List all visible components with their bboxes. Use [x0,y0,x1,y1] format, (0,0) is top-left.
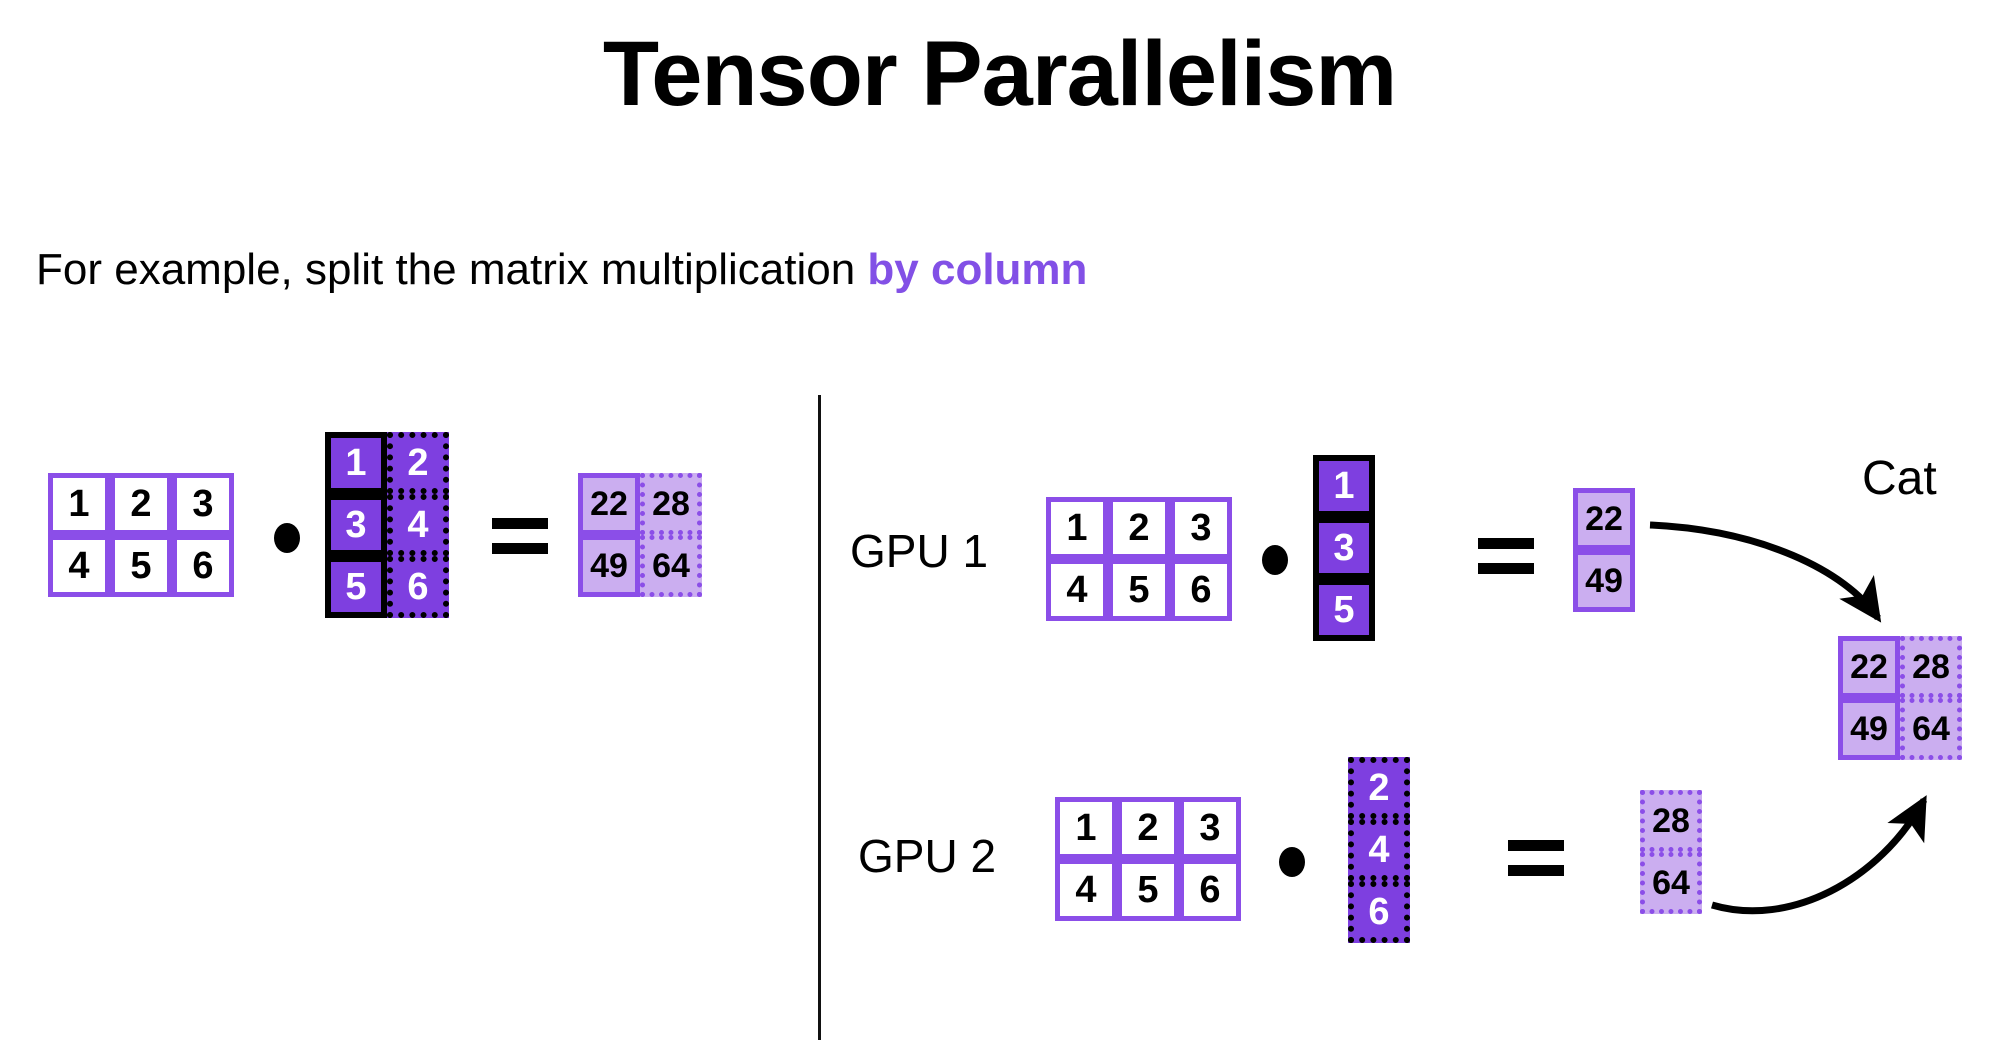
gpu2-matrix-b: 2 4 6 [1348,757,1410,943]
matrix-cell: 3 [1170,497,1232,559]
equals-operator-icon [1478,538,1534,574]
matrix-cell: 4 [1055,859,1117,921]
concat-label: Cat [1862,455,1937,503]
matrix-cell: 64 [1900,698,1962,760]
matrix-cell: 1 [325,432,387,494]
section-divider [818,395,821,1040]
matrix-cell: 49 [578,535,640,597]
matrix-cell: 28 [1640,790,1702,852]
matrix-cell: 64 [1640,852,1702,914]
subtitle-accent: by column [867,245,1087,294]
matrix-cell: 6 [387,556,449,618]
matrix-cell: 3 [325,494,387,556]
gpu1-matrix-b: 1 3 5 [1313,455,1375,641]
table-row: 1 2 3 [48,473,234,535]
matrix-cell: 3 [1313,517,1375,579]
matrix-cell: 1 [1313,455,1375,517]
dot-product-operator-icon [274,523,300,553]
matrix-cell: 6 [1170,559,1232,621]
matrix-cell: 64 [640,535,702,597]
matrix-cell: 3 [172,473,234,535]
subtitle-prefix: For example, split the matrix multiplica… [36,245,867,294]
concat-result-matrix: 22 49 28 64 [1838,636,1962,760]
matrix-cell: 2 [1108,497,1170,559]
gpu1-to-concat-arrow [1650,525,1878,618]
matrix-cell: 2 [1117,797,1179,859]
dot-product-operator-icon [1262,545,1288,575]
gpu2-to-concat-arrow [1712,800,1924,911]
result-column-solid: 22 49 [1838,636,1900,760]
matrix-cell: 22 [578,473,640,535]
matrix-column-solid: 1 3 5 [325,432,387,618]
matrix-cell: 49 [1573,550,1635,612]
left-matrix-b: 1 3 5 2 4 6 [325,432,449,618]
gpu1-result-matrix: 22 49 [1573,488,1635,612]
table-row: 1 2 3 [1055,797,1241,859]
result-column-dotted: 28 64 [1900,636,1962,760]
matrix-cell: 5 [1117,859,1179,921]
matrix-cell: 6 [1348,881,1410,943]
table-row: 1 2 3 [1046,497,1232,559]
dot-product-operator-icon [1279,847,1305,877]
table-row: 4 5 6 [1055,859,1241,921]
equals-operator-icon [1508,840,1564,876]
table-row: 4 5 6 [48,535,234,597]
matrix-cell: 2 [387,432,449,494]
matrix-cell: 5 [1108,559,1170,621]
matrix-cell: 1 [1055,797,1117,859]
matrix-cell: 2 [1348,757,1410,819]
matrix-column-dotted: 2 4 6 [387,432,449,618]
matrix-cell: 28 [1900,636,1962,698]
left-result-matrix: 22 49 28 64 [578,473,702,597]
matrix-cell: 22 [1838,636,1900,698]
result-column-solid: 22 49 [578,473,640,597]
page-title: Tensor Parallelism [0,28,1999,120]
gpu2-result-matrix: 28 64 [1640,790,1702,914]
matrix-cell: 4 [387,494,449,556]
matrix-cell: 2 [110,473,172,535]
matrix-cell: 5 [110,535,172,597]
matrix-cell: 6 [172,535,234,597]
matrix-cell: 49 [1838,698,1900,760]
matrix-cell: 22 [1573,488,1635,550]
gpu2-label: GPU 2 [858,833,996,879]
matrix-cell: 6 [1179,859,1241,921]
gpu1-matrix-a: 1 2 3 4 5 6 [1046,497,1232,621]
matrix-cell: 4 [48,535,110,597]
gpu2-matrix-a: 1 2 3 4 5 6 [1055,797,1241,921]
matrix-cell: 5 [325,556,387,618]
matrix-cell: 1 [1046,497,1108,559]
left-matrix-a: 1 2 3 4 5 6 [48,473,234,597]
gpu1-label: GPU 1 [850,528,988,574]
table-row: 4 5 6 [1046,559,1232,621]
matrix-cell: 4 [1046,559,1108,621]
matrix-cell: 4 [1348,819,1410,881]
matrix-cell: 5 [1313,579,1375,641]
subtitle: For example, split the matrix multiplica… [36,248,1087,292]
matrix-cell: 1 [48,473,110,535]
result-column-dotted: 28 64 [640,473,702,597]
equals-operator-icon [492,518,548,554]
matrix-cell: 3 [1179,797,1241,859]
matrix-cell: 28 [640,473,702,535]
